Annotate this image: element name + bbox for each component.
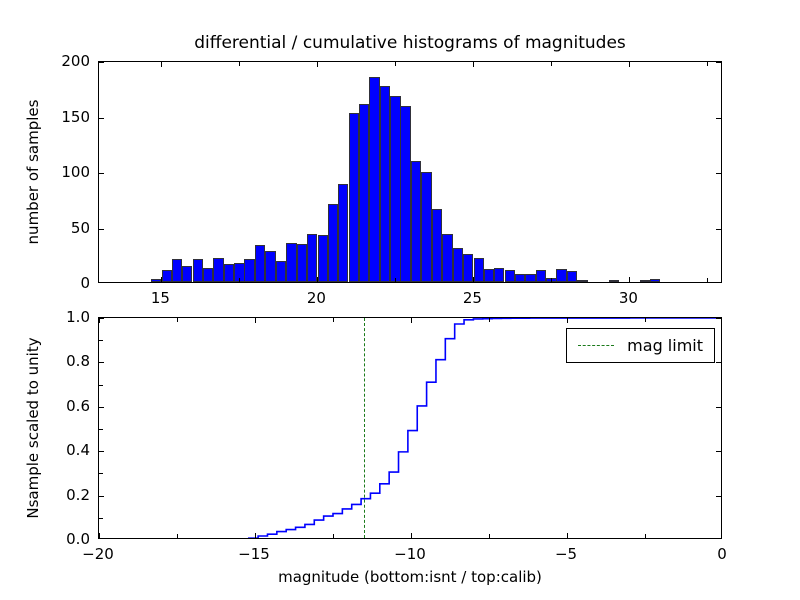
histogram-bar (505, 270, 515, 282)
histogram-bar (318, 235, 328, 282)
histogram-bar (411, 161, 421, 282)
histogram-bar (390, 96, 400, 282)
x-tick-label: −10 (394, 545, 426, 563)
y-tick-minor (99, 518, 103, 519)
x-tick-minor (707, 278, 708, 282)
histogram-bar (432, 209, 442, 282)
x-tick-minor (333, 534, 334, 538)
histogram-bar (463, 254, 473, 282)
histogram-bar (255, 245, 265, 282)
x-tick-major (99, 533, 100, 538)
y-tick-major (99, 229, 104, 230)
y-tick-major (716, 229, 721, 230)
histogram-bar (525, 274, 535, 282)
y-tick-major (716, 118, 721, 119)
y-tick-major (99, 362, 104, 363)
x-tick-minor (395, 62, 396, 66)
x-tick-major (317, 277, 318, 282)
histogram-bar (640, 280, 650, 282)
y-tick-major (716, 451, 721, 452)
cumulative-histogram-plot-area: mag limit (98, 317, 722, 539)
figure-canvas: differential / cumulative histograms of … (0, 0, 800, 600)
x-tick-minor (239, 62, 240, 66)
mag-limit-vertical-line (364, 318, 365, 538)
y-tick-label: 150 (61, 108, 90, 126)
x-tick-minor (645, 318, 646, 322)
x-tick-minor (645, 534, 646, 538)
histogram-bar (203, 268, 213, 282)
y-tick-label: 0 (80, 274, 90, 292)
histogram-bar (567, 271, 577, 282)
x-tick-minor (489, 318, 490, 322)
x-tick-minor (177, 318, 178, 322)
histogram-bar (244, 259, 254, 282)
y-tick-minor (99, 385, 103, 386)
histogram-bar (182, 266, 192, 282)
histogram-bar (556, 269, 566, 282)
histogram-bar (151, 279, 161, 282)
histogram-bar (213, 258, 223, 282)
bottom-panel-y-axis-label: Nsample scaled to unity (24, 337, 42, 518)
histogram-bar (172, 259, 182, 282)
x-tick-label: −15 (238, 545, 270, 563)
histogram-bar (276, 261, 286, 282)
histogram-bar (494, 268, 504, 282)
top-panel-y-axis-label: number of samples (24, 100, 42, 245)
y-tick-label: 0.6 (66, 397, 90, 415)
histogram-bar (536, 270, 546, 282)
histogram-bar (453, 248, 463, 282)
x-tick-major (411, 533, 412, 538)
histogram-bar (286, 243, 296, 282)
y-tick-label: 0.8 (66, 352, 90, 370)
histogram-bar (265, 251, 275, 282)
x-tick-label: 0 (717, 545, 727, 563)
histogram-bar (349, 113, 359, 282)
histogram-bar (328, 204, 338, 282)
y-tick-label: 1.0 (66, 308, 90, 326)
y-tick-label: 0.4 (66, 441, 90, 459)
histogram-bar (224, 264, 234, 282)
x-tick-minor (395, 278, 396, 282)
x-tick-major (255, 533, 256, 538)
y-tick-major (716, 318, 721, 319)
y-tick-major (716, 173, 721, 174)
x-tick-label: 15 (151, 289, 170, 307)
histogram-bar (577, 280, 587, 282)
y-tick-major (99, 62, 104, 63)
histogram-bar (307, 234, 317, 282)
histogram-bar (515, 274, 525, 282)
y-tick-major (716, 407, 721, 408)
y-tick-major (716, 496, 721, 497)
y-tick-label: 0.2 (66, 486, 90, 504)
y-tick-major (716, 362, 721, 363)
x-tick-major (317, 62, 318, 67)
y-tick-major (99, 407, 104, 408)
histogram-bar (442, 234, 452, 282)
x-tick-minor (551, 62, 552, 66)
histogram-bar (380, 86, 390, 282)
y-tick-major (99, 318, 104, 319)
histogram-bar (359, 104, 369, 282)
y-tick-minor (99, 473, 103, 474)
x-tick-minor (551, 278, 552, 282)
y-tick-major (99, 451, 104, 452)
y-tick-minor (99, 429, 103, 430)
histogram-bar (609, 280, 619, 282)
y-tick-label: 200 (61, 52, 90, 70)
x-tick-major (473, 277, 474, 282)
x-tick-major (567, 318, 568, 323)
chart-title: differential / cumulative histograms of … (98, 33, 722, 53)
histogram-bar (400, 106, 410, 282)
x-tick-major (629, 62, 630, 67)
histogram-bar (162, 270, 172, 282)
x-tick-label: 25 (463, 289, 482, 307)
bottom-panel-x-axis-label: magnitude (bottom:isnt / top:calib) (98, 568, 722, 586)
x-tick-major (629, 277, 630, 282)
histogram-bar (421, 172, 431, 282)
x-tick-label: −5 (555, 545, 577, 563)
x-tick-label: 30 (619, 289, 638, 307)
y-tick-minor (99, 340, 103, 341)
x-tick-major (411, 318, 412, 323)
histogram-bar (369, 77, 379, 282)
x-tick-label: 20 (307, 289, 326, 307)
x-tick-major (161, 277, 162, 282)
histogram-bar (193, 259, 203, 282)
x-tick-minor (489, 534, 490, 538)
histogram-bar (338, 184, 348, 282)
histogram-bar (297, 244, 307, 282)
y-tick-label: 100 (61, 163, 90, 181)
histogram-bar (484, 269, 494, 282)
y-tick-major (99, 173, 104, 174)
x-tick-major (161, 62, 162, 67)
x-tick-major (567, 533, 568, 538)
y-tick-major (99, 118, 104, 119)
x-tick-minor (177, 534, 178, 538)
histogram-bar (650, 279, 660, 282)
legend-dashed-line-icon (578, 345, 614, 346)
legend[interactable]: mag limit (566, 328, 715, 363)
x-tick-minor (333, 318, 334, 322)
x-tick-major (255, 318, 256, 323)
y-tick-label: 50 (71, 219, 90, 237)
y-tick-major (716, 62, 721, 63)
x-tick-major (473, 62, 474, 67)
differential-histogram-plot-area (98, 61, 722, 283)
y-tick-label: 0.0 (66, 530, 90, 548)
x-tick-minor (707, 62, 708, 66)
x-tick-minor (239, 278, 240, 282)
histogram-bar (474, 258, 484, 282)
legend-label-mag-limit: mag limit (627, 336, 703, 355)
y-tick-major (99, 496, 104, 497)
